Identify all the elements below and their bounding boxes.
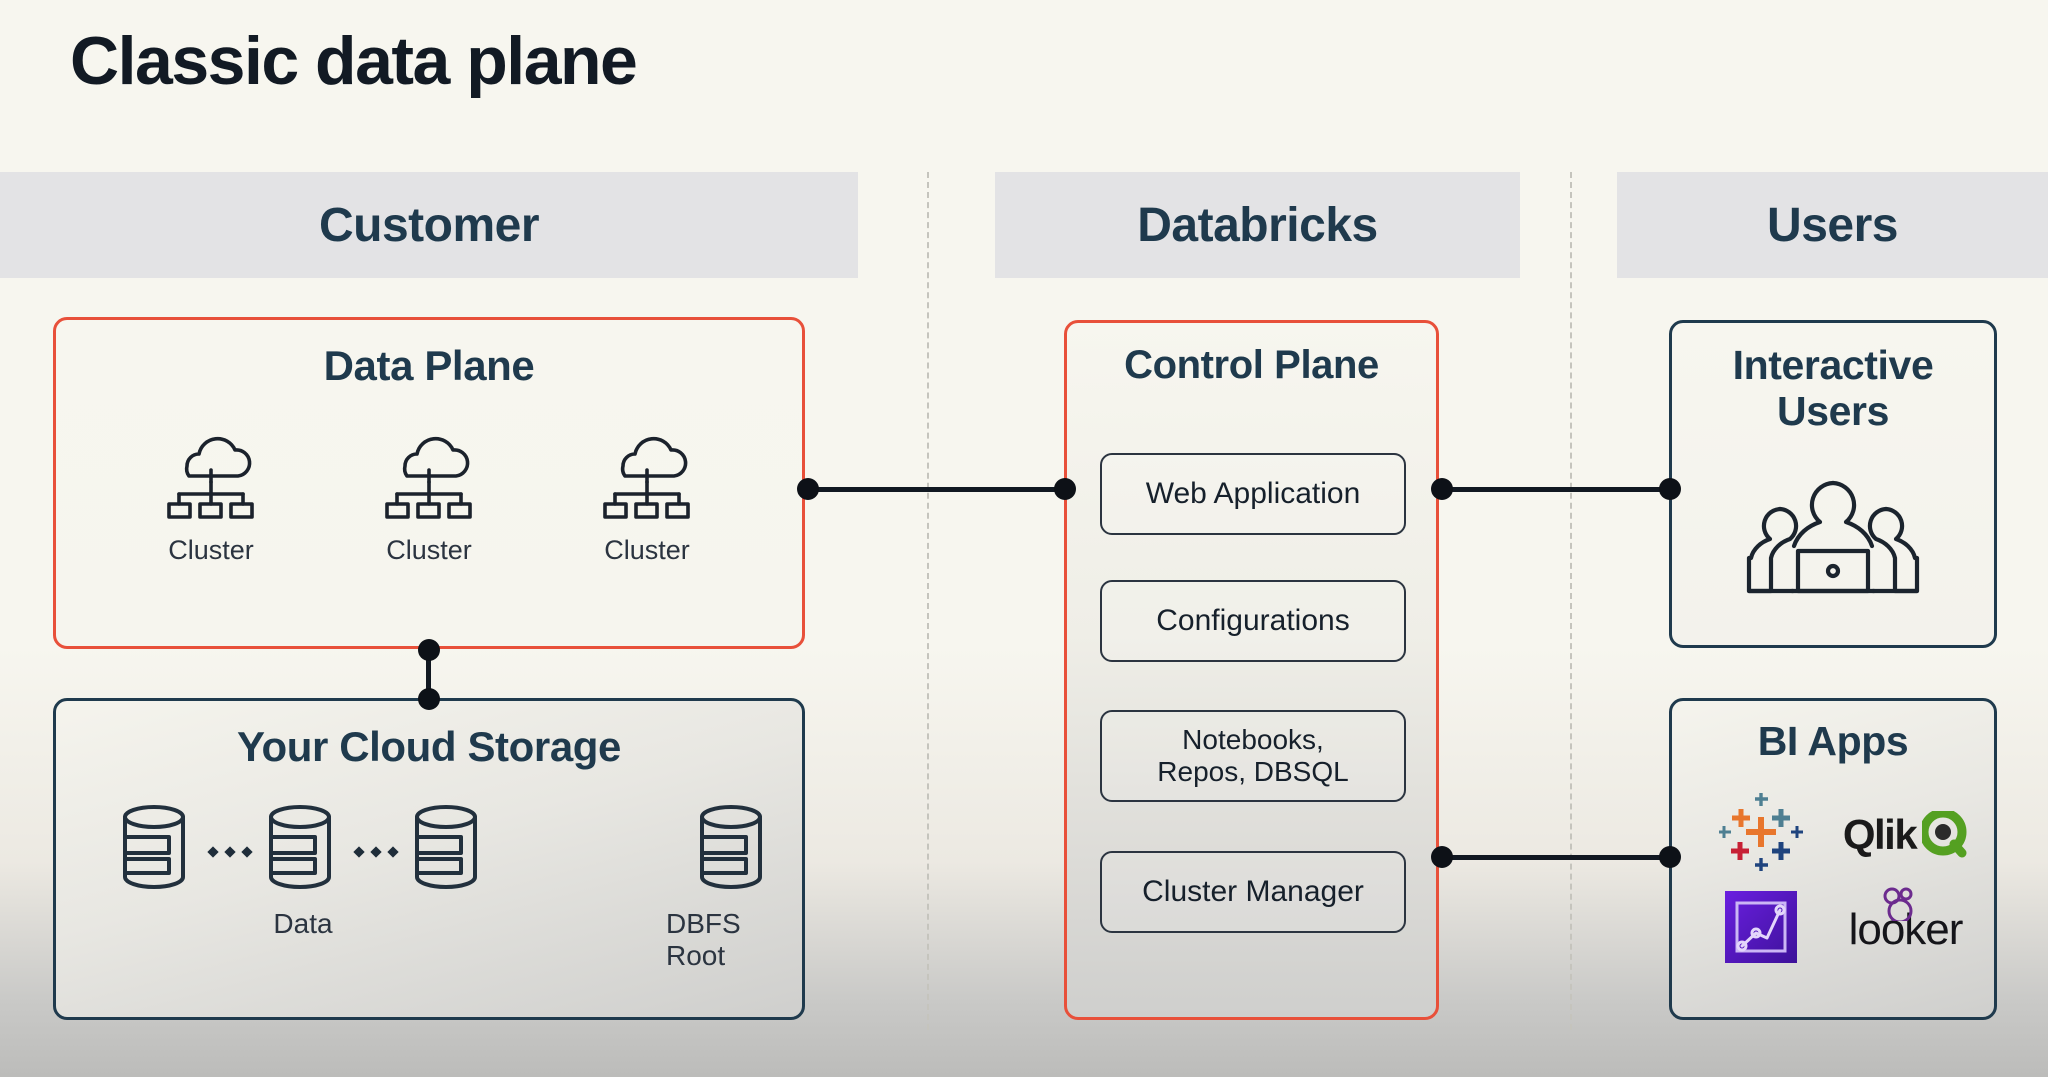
diagram-canvas: Classic data plane Customer Databricks U…: [0, 0, 2048, 1077]
column-divider-left: [927, 172, 929, 1030]
data-plane-title: Data Plane: [56, 342, 802, 389]
qlik-wordmark: Qlik: [1843, 811, 1916, 859]
looker-bubbles-icon: [1875, 887, 1921, 921]
column-header-customer: Customer: [0, 172, 858, 278]
qlik-logo: Qlik: [1843, 811, 1968, 859]
connector-dot-controlplane-left: [1054, 478, 1076, 500]
column-divider-right: [1570, 172, 1572, 1030]
storage-label-dbfs-root: DBFS Root: [666, 908, 802, 972]
tableau-logo: [1718, 789, 1804, 880]
control-plane-item-web-application[interactable]: Web Application: [1100, 453, 1406, 535]
control-plane-box[interactable]: Control Plane Web Application Configurat…: [1064, 320, 1439, 1020]
cluster-label-2: Cluster: [386, 535, 472, 566]
page-title: Classic data plane: [70, 22, 636, 100]
storage-group-dbfs-root[interactable]: DBFS Root: [666, 803, 802, 972]
connector-dot-interactiveusers-left: [1659, 478, 1681, 500]
connector-dot-dataplane-right: [797, 478, 819, 500]
bi-logo-chart-app[interactable]: [1723, 889, 1799, 970]
looker-logo: looker: [1849, 905, 1963, 955]
cloud-storage-box[interactable]: Your Cloud Storage: [53, 698, 805, 1020]
control-plane-item-cluster-manager[interactable]: Cluster Manager: [1100, 851, 1406, 933]
database-cylinder-icon: [695, 803, 773, 900]
control-plane-title: Control Plane: [1067, 343, 1436, 388]
interactive-users-box[interactable]: Interactive Users: [1669, 320, 1997, 648]
data-plane-box[interactable]: Data Plane Cluster: [53, 317, 805, 649]
cluster-item-2[interactable]: Cluster: [377, 424, 481, 566]
cloud-cluster-icon: [595, 424, 699, 525]
dotted-connector-icon: [202, 848, 258, 856]
cloud-cluster-icon: [159, 424, 263, 525]
dotted-connector-icon: [348, 848, 404, 856]
connector-dot-storage-top: [418, 688, 440, 710]
cloud-cluster-icon: [377, 424, 481, 525]
column-header-users: Users: [1617, 172, 2048, 278]
connector-dataplane-controlplane: [806, 487, 1066, 492]
connector-dot-controlplane-right-top: [1431, 478, 1453, 500]
database-cylinder-icon: [410, 803, 488, 900]
cluster-item-3[interactable]: Cluster: [595, 424, 699, 566]
connector-controlplane-interactiveusers: [1440, 487, 1672, 492]
purple-chart-logo: [1723, 889, 1799, 970]
database-cylinder-icon: [118, 803, 196, 900]
bi-logo-qlik[interactable]: Qlik: [1843, 811, 1968, 859]
column-header-databricks-label: Databricks: [1137, 198, 1377, 253]
cluster-label-3: Cluster: [604, 535, 690, 566]
connector-dot-dataplane-bottom: [418, 639, 440, 661]
bi-apps-logo-grid: Qlik: [1688, 789, 1978, 975]
database-cylinder-icon: [264, 803, 342, 900]
connector-dot-biapps-left: [1659, 846, 1681, 868]
bi-logo-tableau[interactable]: [1718, 789, 1804, 880]
connector-dot-controlplane-right-bottom: [1431, 846, 1453, 868]
users-with-laptop-icon: [1672, 473, 1994, 605]
column-header-customer-label: Customer: [319, 198, 539, 253]
bi-apps-title: BI Apps: [1672, 719, 1994, 765]
cluster-label-1: Cluster: [168, 535, 254, 566]
bi-apps-box[interactable]: BI Apps: [1669, 698, 1997, 1020]
storage-group-data[interactable]: Data: [118, 803, 488, 940]
cluster-row: Cluster Cluster: [56, 424, 802, 566]
control-plane-item-configurations[interactable]: Configurations: [1100, 580, 1406, 662]
cluster-item-1[interactable]: Cluster: [159, 424, 263, 566]
column-header-users-label: Users: [1767, 198, 1898, 253]
connector-controlplane-biapps: [1440, 855, 1672, 860]
control-plane-item-notebooks[interactable]: Notebooks, Repos, DBSQL: [1100, 710, 1406, 802]
interactive-users-title: Interactive Users: [1672, 343, 1994, 435]
storage-label-data: Data: [273, 908, 332, 940]
storage-row: Data DBFS Root: [56, 803, 802, 972]
qlik-q-mark: [1922, 811, 1968, 859]
storage-icons-data: [118, 803, 488, 900]
column-header-databricks: Databricks: [995, 172, 1520, 278]
storage-icons-dbfs: [695, 803, 773, 900]
cloud-storage-title: Your Cloud Storage: [56, 723, 802, 770]
bi-logo-looker[interactable]: looker: [1849, 905, 1963, 955]
